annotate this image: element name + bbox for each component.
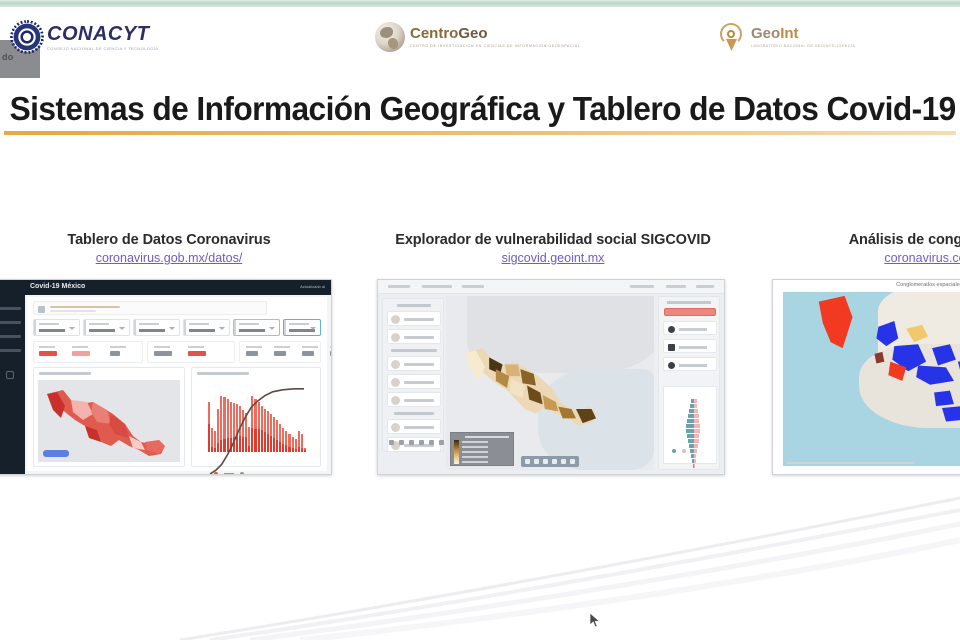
filter-tool-icon (561, 459, 566, 464)
layer-card[interactable] (387, 311, 441, 326)
covid-dashboard-thumbnail[interactable]: Covid-19 México Actualizado al (0, 279, 332, 475)
summary-action-button[interactable] (664, 308, 716, 316)
geoint-wordmark: GeoInt (751, 26, 855, 41)
layer-card[interactable] (387, 392, 441, 407)
filter-edad[interactable] (133, 319, 180, 336)
pyramid-rows (676, 399, 712, 451)
logo-geoint: GeoInt LABORATORIO NACIONAL DE GEOINTELI… (718, 22, 855, 52)
globe-icon (375, 22, 405, 52)
summary-card (663, 339, 717, 353)
mexico-choropleth-map[interactable] (38, 380, 180, 462)
tools-section-title (394, 412, 434, 415)
chart-tool-icon (552, 459, 557, 464)
dashboard-filters[interactable] (33, 319, 321, 336)
cluster-map-scalebar (787, 462, 914, 464)
print-icon (429, 440, 434, 445)
share-icon (439, 440, 444, 445)
column-3-link[interactable]: coronavirus.co (884, 251, 960, 265)
decorative-swoosh (0, 480, 960, 640)
geoint-tagline: LABORATORIO NACIONAL DE GEOINTELIGENCIA (751, 44, 855, 48)
vulnerability-map[interactable] (446, 296, 654, 470)
sigcovid-explorer-thumbnail[interactable] (377, 279, 725, 475)
pyramid-legend (672, 449, 686, 453)
columns-row: Tablero de Datos Coronavirus coronavirus… (0, 232, 960, 492)
kpi-group-mid (147, 341, 235, 363)
gis-layers-panel[interactable] (382, 298, 444, 452)
logo-conacyt: CONACYT CONSEJO NACIONAL DE CIENCIA Y TE… (12, 22, 158, 52)
filter-escala[interactable] (283, 319, 321, 336)
title-underline (4, 131, 956, 135)
column-2-title: Explorador de vulnerabilidad social SIGC… (372, 232, 734, 248)
geoint-wordmark-secondary: Int (780, 25, 798, 42)
dashboard-app-title: Covid-19 México (30, 283, 85, 290)
layers-tool-icon (534, 459, 539, 464)
conacyt-wordmark: CONACYT (47, 24, 158, 44)
dashboard-map-panel[interactable] (33, 367, 185, 467)
top-accent-strip (0, 0, 960, 7)
summary-title (667, 301, 711, 304)
centrogeo-wordmark-secondary: Geo (458, 25, 487, 42)
column-1-header: Tablero de Datos Coronavirus coronavirus… (0, 232, 344, 267)
cluster-analysis-thumbnail[interactable]: Conglomerados espaciales para l (772, 279, 960, 475)
mouse-cursor (589, 612, 601, 629)
centrogeo-tagline: CENTRO DE INVESTIGACIÓN EN CIENCIAS DE I… (410, 44, 580, 48)
dashboard-notice (33, 301, 267, 315)
layer-card[interactable] (387, 329, 441, 344)
measure-icon (409, 440, 414, 445)
map-toolbar[interactable] (521, 456, 579, 467)
download-icon[interactable] (6, 371, 14, 379)
cluster-polygons (783, 292, 960, 466)
map-pin-icon (718, 22, 746, 52)
layer-card[interactable] (387, 374, 441, 389)
column-sigcovid: Explorador de vulnerabilidad social SIGC… (372, 232, 734, 475)
cursor-tool-icon (525, 459, 530, 464)
map-legend (450, 432, 514, 466)
gis-topbar (378, 280, 724, 294)
conacyt-tagline: CONSEJO NACIONAL DE CIENCIA Y TECNOLOGÍA (47, 46, 158, 51)
dashboard-kpis (33, 341, 321, 363)
settings-tool-icon (570, 459, 575, 464)
chart-panel-title (197, 372, 249, 375)
population-pyramid (663, 386, 717, 464)
summary-card (663, 357, 717, 371)
geoint-wordmark-primary: Geo (751, 25, 780, 42)
logo-centrogeo: CentroGeo CENTRO DE INVESTIGACIÓN EN CIE… (375, 22, 580, 52)
logo-row: CONACYT CONSEJO NACIONAL DE CIENCIA Y TE… (0, 8, 960, 70)
kpi-group-left (33, 341, 143, 363)
dashboard-chart-panel[interactable] (191, 367, 321, 467)
layers-section-title (397, 304, 431, 307)
filter-fecha[interactable] (183, 319, 230, 336)
pan-icon (389, 440, 394, 445)
gis-summary-panel[interactable] (658, 296, 720, 470)
info-tool-icon (543, 459, 548, 464)
cluster-map-title: Conglomerados espaciales para l (773, 282, 960, 288)
column-2-link[interactable]: sigcovid.geoint.mx (502, 251, 605, 265)
page-title: Sistemas de Información Geográfica y Tab… (0, 90, 922, 128)
kpi-group-right (239, 341, 321, 363)
column-1-title: Tablero de Datos Coronavirus (0, 232, 344, 248)
column-tablero-datos: Tablero de Datos Coronavirus coronavirus… (0, 232, 344, 475)
zoom-icon (399, 440, 404, 445)
dashboard-sidebar[interactable] (0, 295, 25, 474)
cluster-map-canvas[interactable] (783, 292, 960, 466)
slide-canvas: do CONACYT CONSEJO NACIONAL DE CIENCIA Y… (0, 0, 960, 640)
gis-tool-icons[interactable] (389, 440, 444, 445)
layer-card[interactable] (387, 419, 441, 434)
filter-entidad[interactable] (33, 319, 80, 336)
layer-card[interactable] (387, 356, 441, 371)
cases-bar-chart (208, 382, 306, 452)
chart-legend (214, 472, 244, 475)
bar-series (208, 382, 306, 452)
dashboard-updated-label: Actualizado al (300, 284, 325, 289)
column-3-header: Análisis de conglomer coronavirus.co (760, 232, 960, 267)
map-panel-title (39, 372, 91, 375)
column-2-header: Explorador de vulnerabilidad social SIGC… (372, 232, 734, 267)
column-3-title: Análisis de conglomer (760, 232, 960, 248)
centrogeo-wordmark-primary: Centro (410, 25, 458, 42)
column-1-link[interactable]: coronavirus.gob.mx/datos/ (96, 251, 243, 265)
dashboard-topbar: Covid-19 México Actualizado al (0, 280, 331, 295)
title-block: Sistemas de Información Geográfica y Tab… (0, 90, 960, 135)
draw-icon (419, 440, 424, 445)
centrogeo-wordmark: CentroGeo (410, 26, 580, 41)
indicators-section-title (391, 349, 437, 352)
summary-card (663, 321, 717, 335)
filter-sexo[interactable] (83, 319, 130, 336)
map-action-button[interactable] (43, 450, 69, 457)
filter-indicador[interactable] (233, 319, 280, 336)
conacyt-rosette-icon (12, 22, 42, 52)
column-conglomerados: Análisis de conglomer coronavirus.co Con… (760, 232, 960, 475)
